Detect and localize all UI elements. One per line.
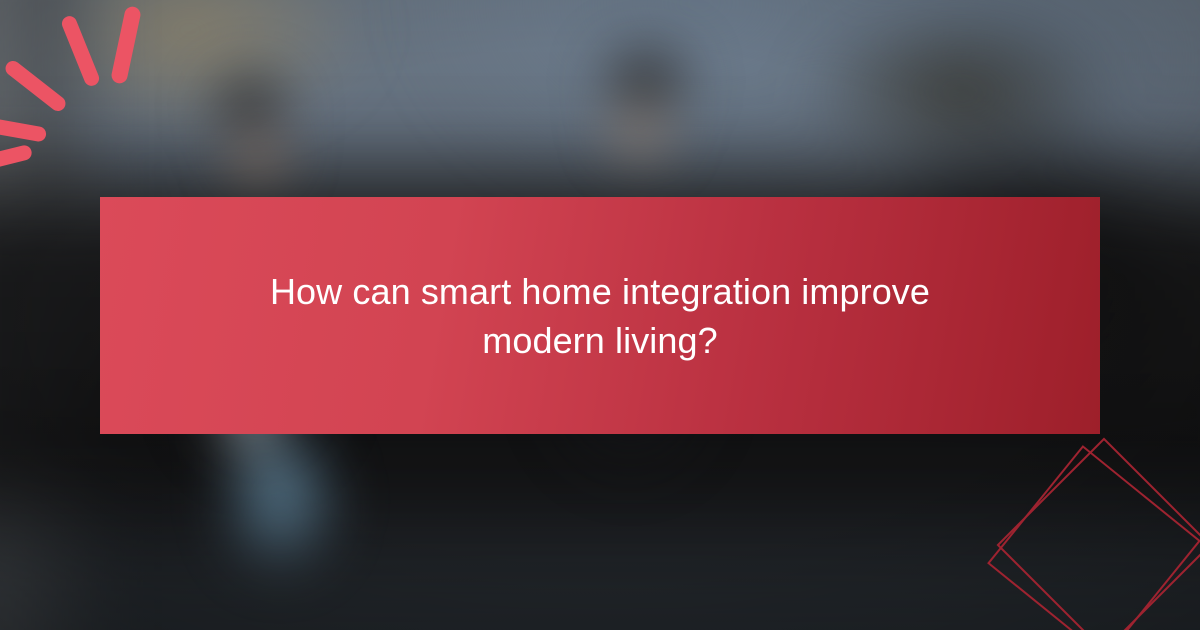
headline-banner: How can smart home integration improve m… [100, 197, 1100, 434]
starburst-ray-1 [110, 5, 142, 85]
starburst-icon [0, 0, 190, 160]
headline-text: How can smart home integration improve m… [211, 267, 989, 365]
share-card-canvas: How can smart home integration improve m… [0, 0, 1200, 630]
starburst-ray-4 [0, 115, 47, 142]
starburst-ray-2 [60, 14, 102, 88]
starburst-ray-3 [3, 58, 69, 114]
